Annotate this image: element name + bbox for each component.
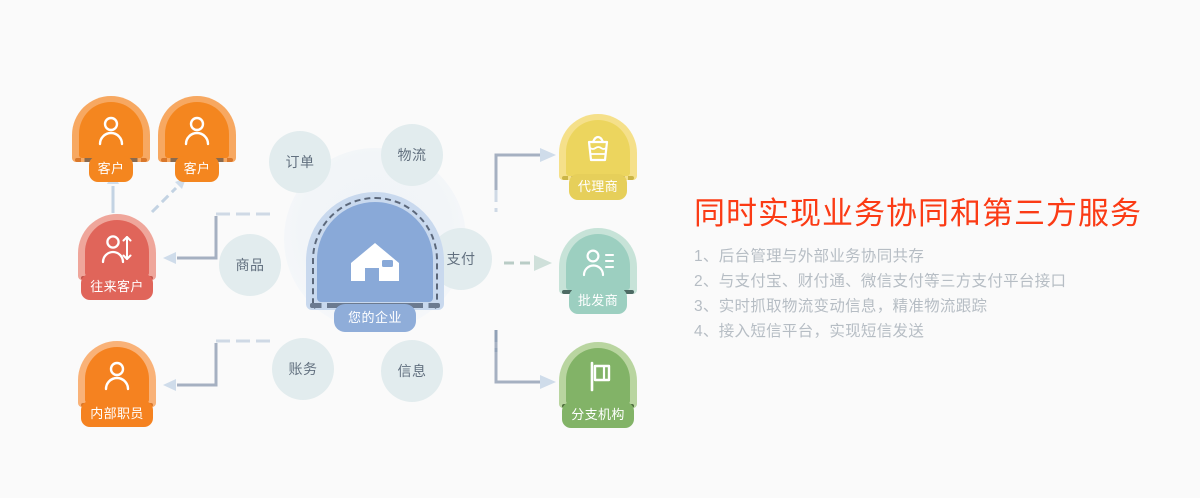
feature-list-item: 3、实时抓取物流变动信息，精准物流跟踪 [694,294,1194,319]
feature-list-item: 4、接入短信平台，实现短信发送 [694,319,1194,344]
center-node-your-enterprise[interactable]: 您的企业 [306,192,444,310]
house-icon [348,240,402,284]
connector-accounting-to-staff [163,341,272,391]
node-label: 分支机构 [562,402,634,428]
bubble-information[interactable]: 信息 [381,340,443,402]
node-label: 客户 [89,156,134,182]
connector-center-to-agent [496,148,556,212]
node-label: 内部职员 [81,401,153,427]
package-icon [581,131,615,165]
connector-trade-to-customer2 [152,178,186,212]
node-label: 往来客户 [81,274,153,300]
bubble-label: 物流 [398,145,427,165]
bubble-label: 支付 [447,249,476,269]
node-wholesaler[interactable]: 批发商 [559,228,637,314]
node-trade-customer[interactable]: 往来客户 [78,214,156,300]
node-branch-office[interactable]: 分支机构 [559,342,637,428]
bubble-label: 商品 [236,255,265,275]
node-label: 批发商 [569,288,627,314]
node-customer-1[interactable]: 客户 [72,96,150,182]
node-label: 代理商 [569,174,627,200]
node-dome [559,342,637,408]
bubble-logistics[interactable]: 物流 [381,124,443,186]
bubble-label: 订单 [286,152,315,172]
feature-list: 1、后台管理与外部业务协同共存 2、与支付宝、财付通、微信支付等三方支付平台接口… [694,244,1194,344]
user-icon [94,113,128,147]
infographic-canvas: 订单 物流 商品 支付 账务 信息 您的企业 [0,0,1200,498]
node-dome [72,96,150,162]
bubble-label: 账务 [289,359,318,379]
bubble-label: 信息 [398,361,427,381]
bubble-orders[interactable]: 订单 [269,131,331,193]
user-exchange-icon [100,231,134,265]
ecosystem-diagram: 订单 物流 商品 支付 账务 信息 您的企业 [0,0,690,498]
node-dome [78,341,156,407]
flag-icon [581,359,615,393]
feature-list-item: 1、后台管理与外部业务协同共存 [694,244,1194,269]
center-node-label: 您的企业 [334,304,416,332]
node-customer-2[interactable]: 客户 [158,96,236,182]
user-icon [180,113,214,147]
node-label: 客户 [175,156,220,182]
node-dome [559,228,637,294]
node-internal-staff[interactable]: 内部职员 [78,341,156,427]
panel-title: 同时实现业务协同和第三方服务 [694,196,1194,232]
node-dome [158,96,236,162]
node-dome [559,114,637,180]
connector-payment-to-wholesaler [504,255,552,271]
node-dome [78,214,156,280]
user-icon [100,358,134,392]
user-list-icon [581,245,615,279]
bubble-products[interactable]: 商品 [219,234,281,296]
connector-information-to-branch [496,330,556,389]
feature-list-item: 2、与支付宝、财付通、微信支付等三方支付平台接口 [694,269,1194,294]
feature-panel: 同时实现业务协同和第三方服务 1、后台管理与外部业务协同共存 2、与支付宝、财付… [694,196,1194,344]
bubble-accounting[interactable]: 账务 [272,338,334,400]
node-agent[interactable]: 代理商 [559,114,637,200]
